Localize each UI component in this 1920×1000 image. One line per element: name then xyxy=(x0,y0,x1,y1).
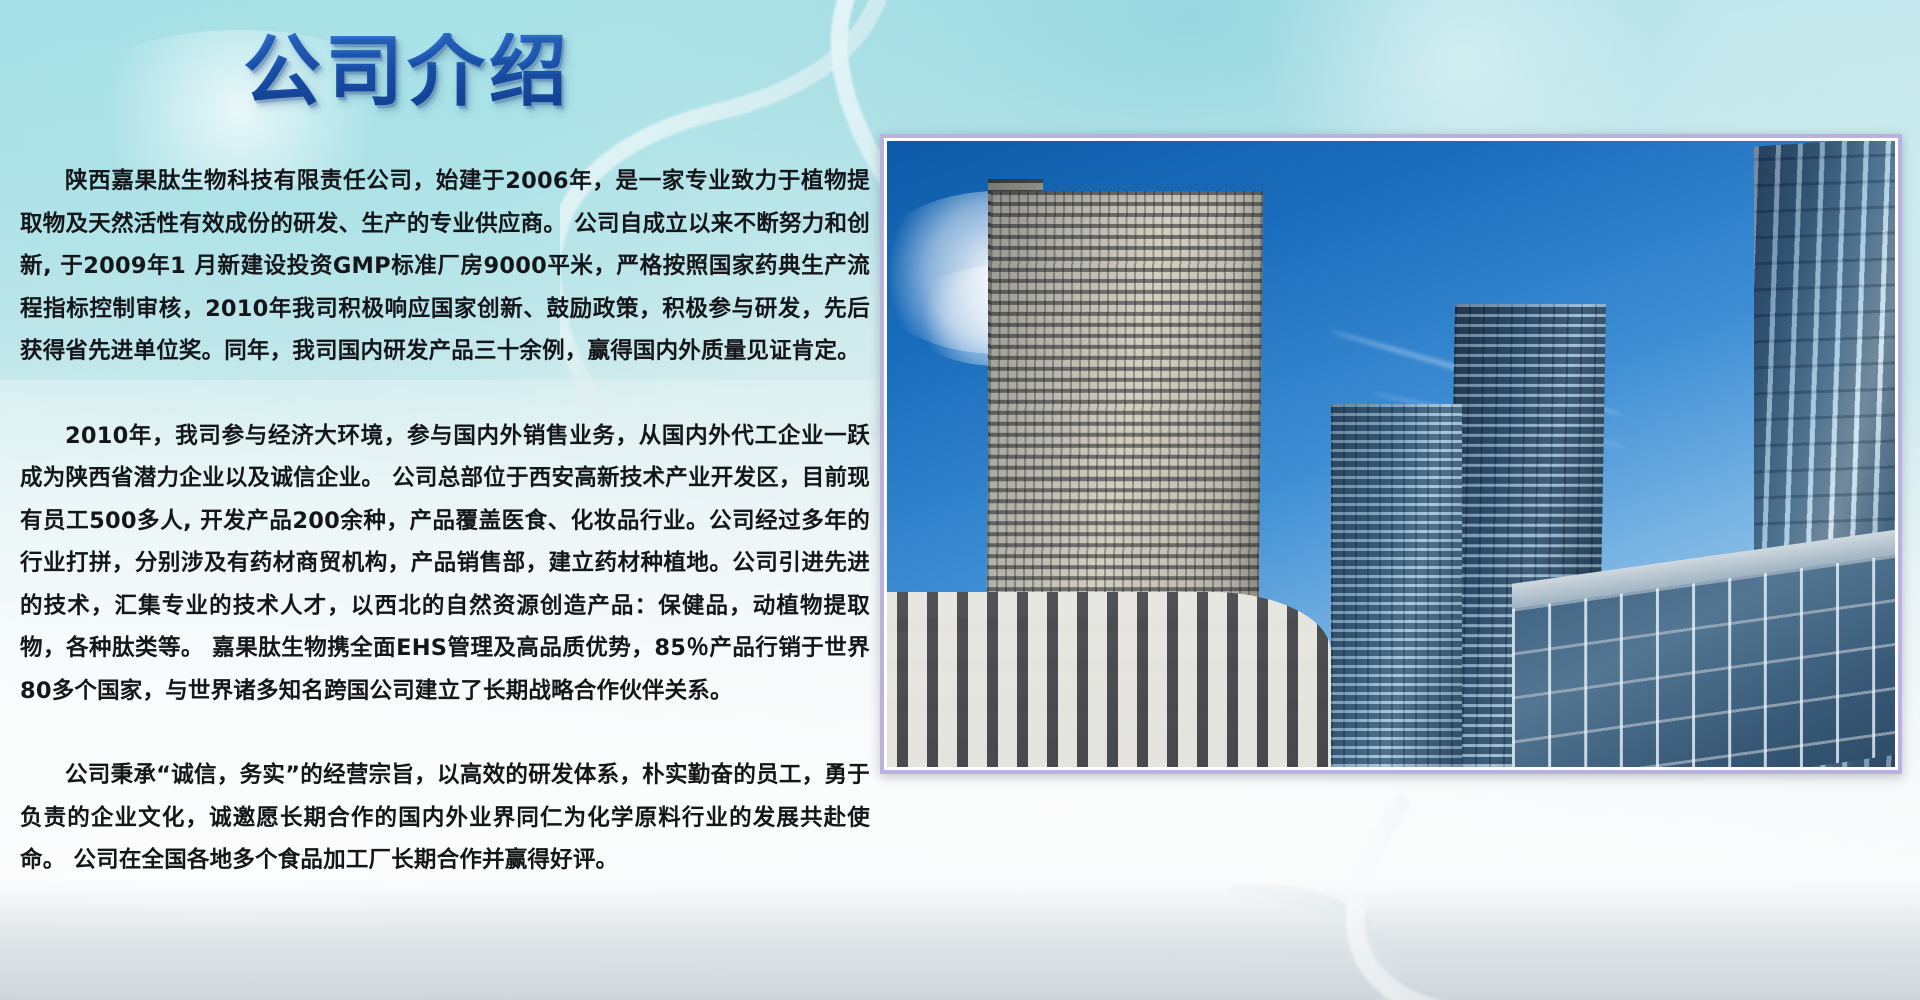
page-title: 公司介绍 xyxy=(243,33,571,111)
background-bottom-band xyxy=(0,880,1920,1000)
company-photo-frame xyxy=(880,134,1902,774)
company-photo xyxy=(887,141,1895,767)
paragraph-2: 2010年，我司参与经济大环境，参与国内外销售业务，从国内外代工企业一跃成为陕西… xyxy=(20,415,870,713)
slide-company-introduction: 公司介绍 公司介绍 陕西嘉果肽生物科技有限责任公司，始建于2006年，是一家专业… xyxy=(0,0,1920,1000)
dna-helix-icon xyxy=(1230,740,1750,1000)
building-stone-curved xyxy=(887,592,1331,767)
building-mid-tower xyxy=(1331,404,1462,767)
paragraph-3: 公司秉承“诚信，务实”的经营宗旨，以高效的研发体系，朴实勤奋的员工，勇于负责的企… xyxy=(20,754,870,882)
paragraph-1: 陕西嘉果肽生物科技有限责任公司，始建于2006年，是一家专业致力于植物提取物及天… xyxy=(20,160,870,373)
company-introduction-text: 陕西嘉果肽生物科技有限责任公司，始建于2006年，是一家专业致力于植物提取物及天… xyxy=(20,160,870,882)
